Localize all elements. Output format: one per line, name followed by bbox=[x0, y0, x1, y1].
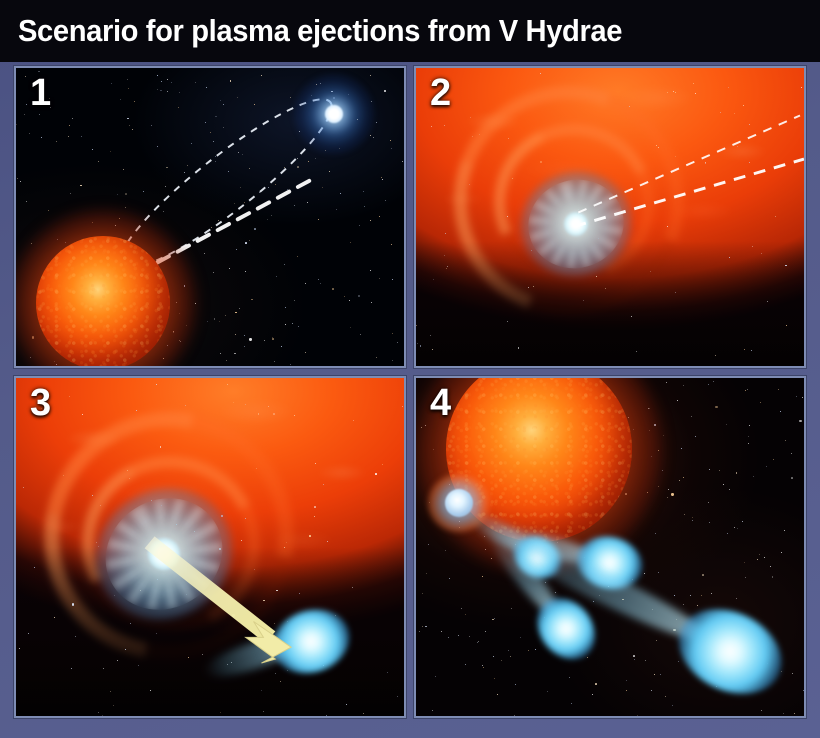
panel-1-scene: 1 bbox=[16, 68, 404, 366]
panel-number: 3 bbox=[30, 384, 51, 424]
blue-companion-star bbox=[294, 74, 374, 154]
figure-root: Scenario for plasma ejections from V Hyd… bbox=[0, 0, 820, 738]
panel-2-scene: 2 bbox=[416, 68, 804, 366]
panel-accretion[interactable]: 2 bbox=[414, 66, 806, 368]
panel-blob-train[interactable]: 4 bbox=[414, 376, 806, 718]
page-title: Scenario for plasma ejections from V Hyd… bbox=[18, 13, 622, 49]
panel-orbit[interactable]: 1 bbox=[14, 66, 406, 368]
panel-number: 4 bbox=[430, 384, 451, 424]
panel-number: 1 bbox=[30, 74, 51, 114]
ejection-arrow bbox=[16, 378, 404, 717]
panel-ejection[interactable]: 3 bbox=[14, 376, 406, 718]
panel-4-scene: 4 bbox=[416, 378, 804, 716]
figure-header: Scenario for plasma ejections from V Hyd… bbox=[0, 0, 820, 62]
dashed-orbit-path bbox=[416, 68, 804, 367]
panel-3-scene: 3 bbox=[16, 378, 404, 716]
panel-number: 2 bbox=[430, 74, 451, 114]
panel-grid: 1 bbox=[14, 66, 806, 722]
red-giant bbox=[36, 236, 170, 368]
